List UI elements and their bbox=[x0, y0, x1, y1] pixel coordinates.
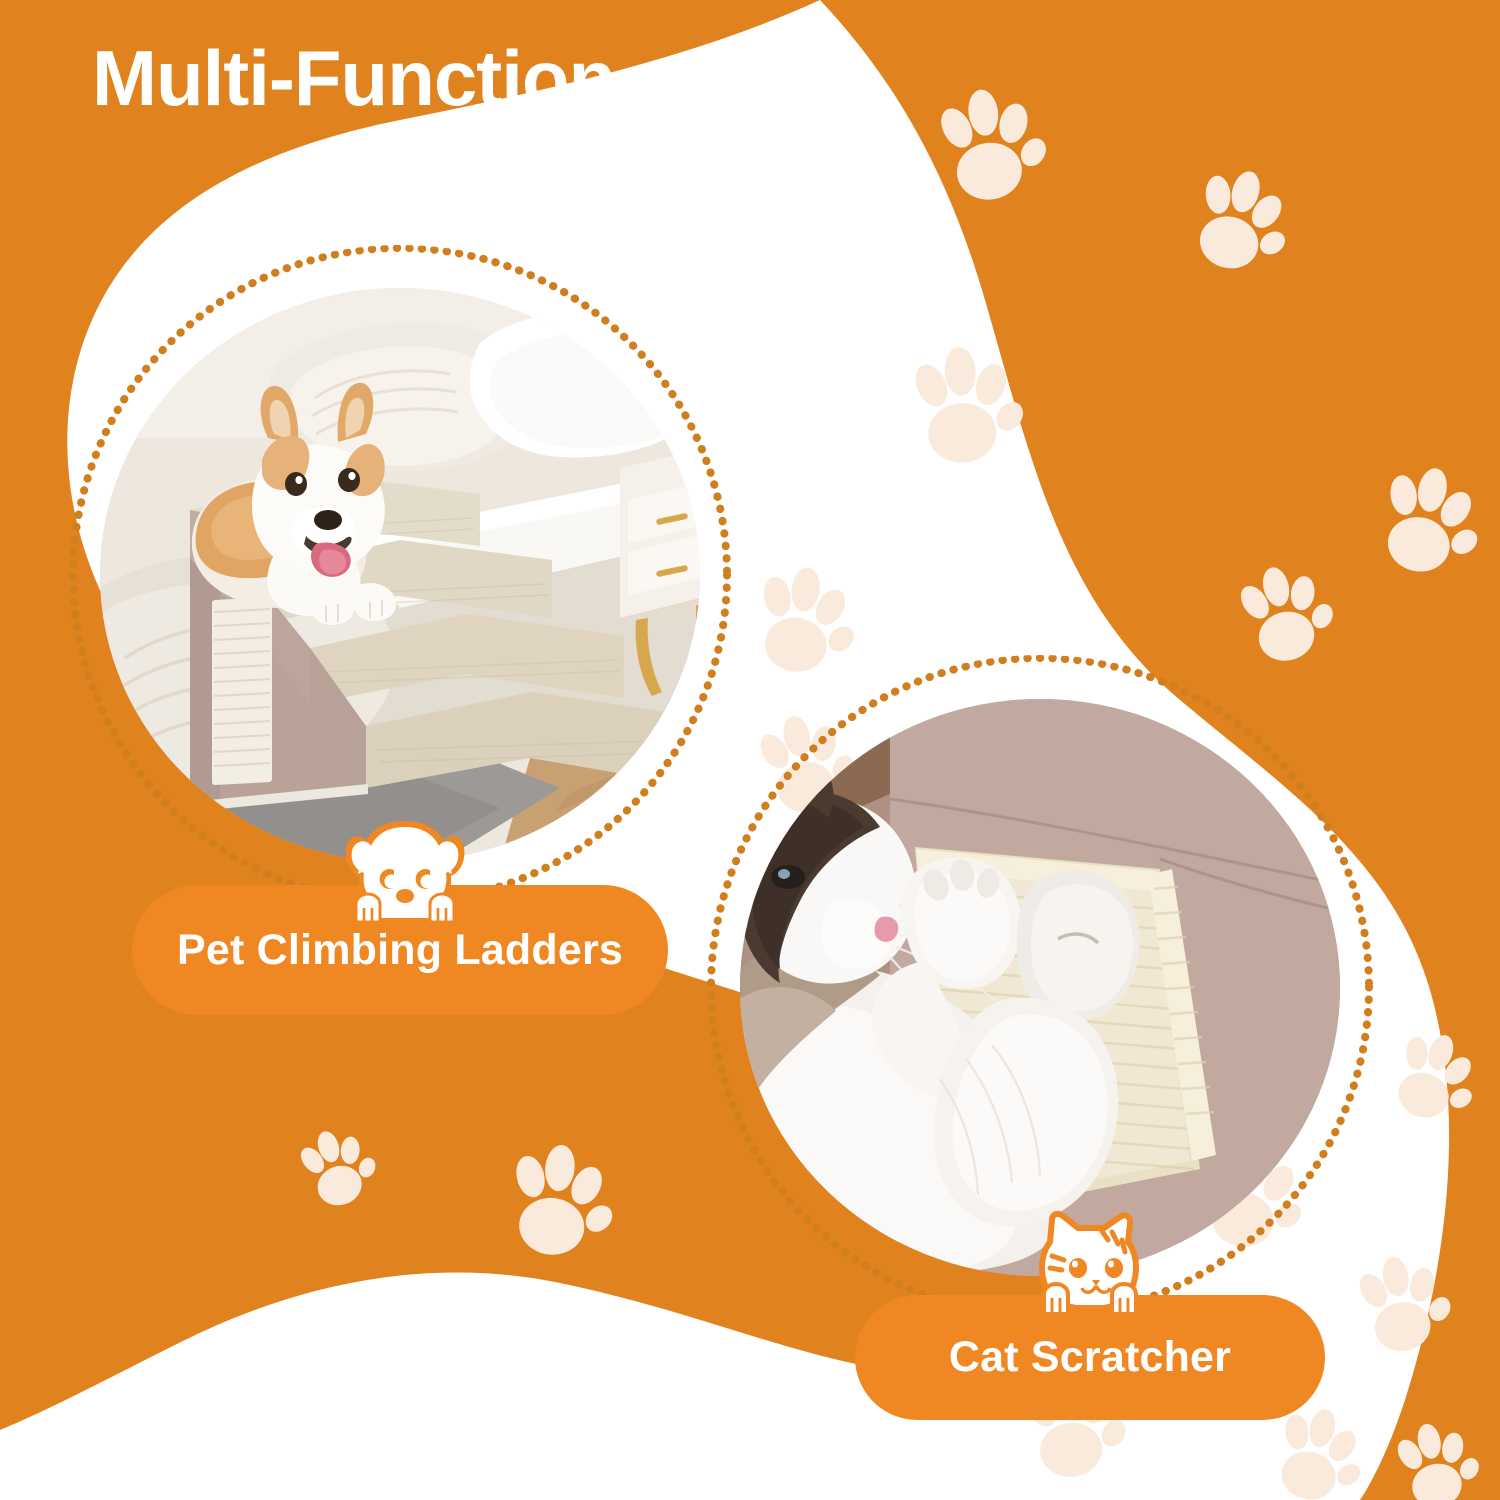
photo-cat-scratcher bbox=[740, 699, 1340, 1276]
badge-cat-scratcher[interactable]: Cat Scratcher bbox=[855, 1295, 1325, 1420]
infographic-canvas: Multi-Function bbox=[0, 0, 1500, 1500]
badge-label-cat-scratcher: Cat Scratcher bbox=[949, 1333, 1231, 1382]
badge-pet-climbing-ladders[interactable]: Pet Climbing Ladders bbox=[132, 885, 668, 1015]
feature-card-cat-scratcher bbox=[695, 655, 1385, 1320]
photo-pet-climbing-ladders bbox=[100, 288, 700, 862]
feature-card-pet-climbing-ladders bbox=[55, 245, 745, 905]
page-title: Multi-Function bbox=[92, 36, 615, 122]
badge-label-pet-climbing-ladders: Pet Climbing Ladders bbox=[177, 926, 623, 975]
